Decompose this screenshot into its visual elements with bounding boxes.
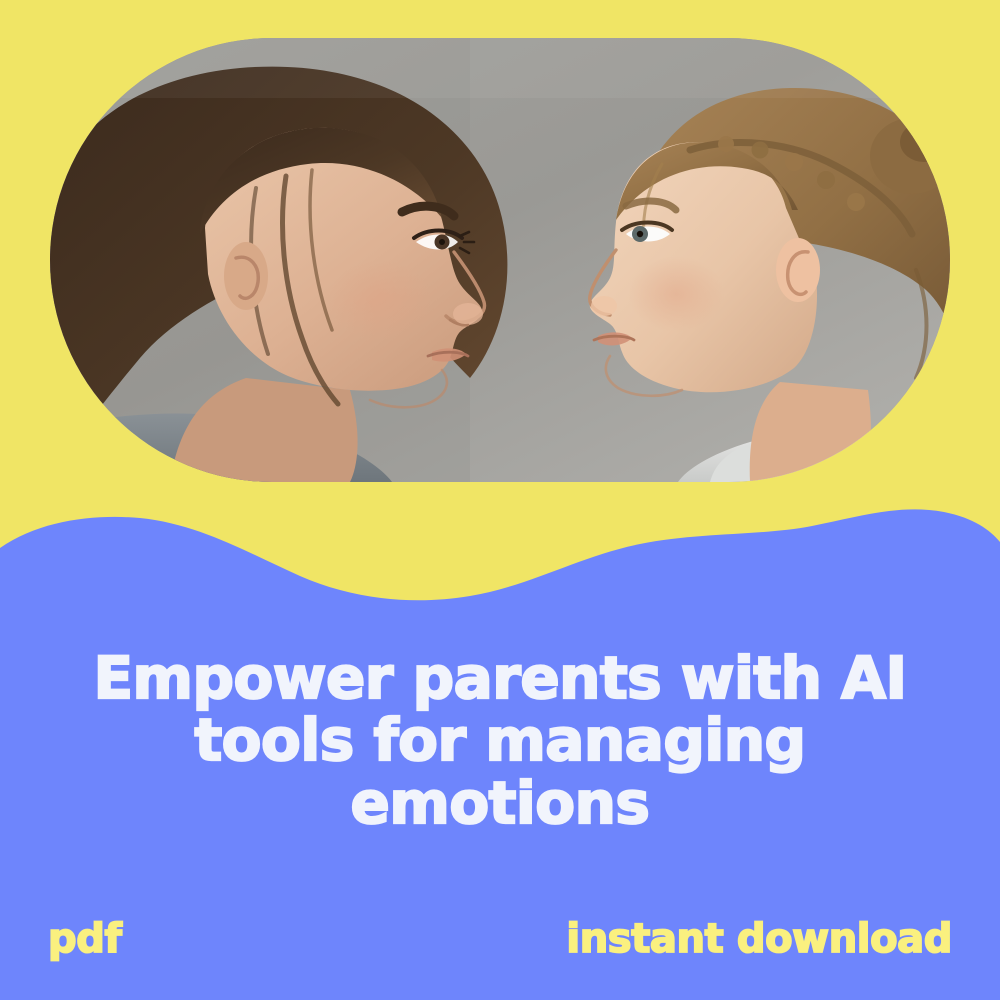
headline-line-1: Empower parents with AI [60, 647, 940, 710]
format-label: pdf [48, 916, 121, 962]
hero-photo-illustration [50, 38, 950, 482]
headline-line-3: emotions [60, 772, 940, 835]
delivery-label: instant download [566, 916, 952, 962]
hero-photo [50, 38, 950, 482]
headline-line-2: tools for managing [60, 709, 940, 772]
page-title: Empower parents with AI tools for managi… [60, 647, 940, 835]
poster-canvas: Empower parents with AI tools for managi… [0, 0, 1000, 1000]
